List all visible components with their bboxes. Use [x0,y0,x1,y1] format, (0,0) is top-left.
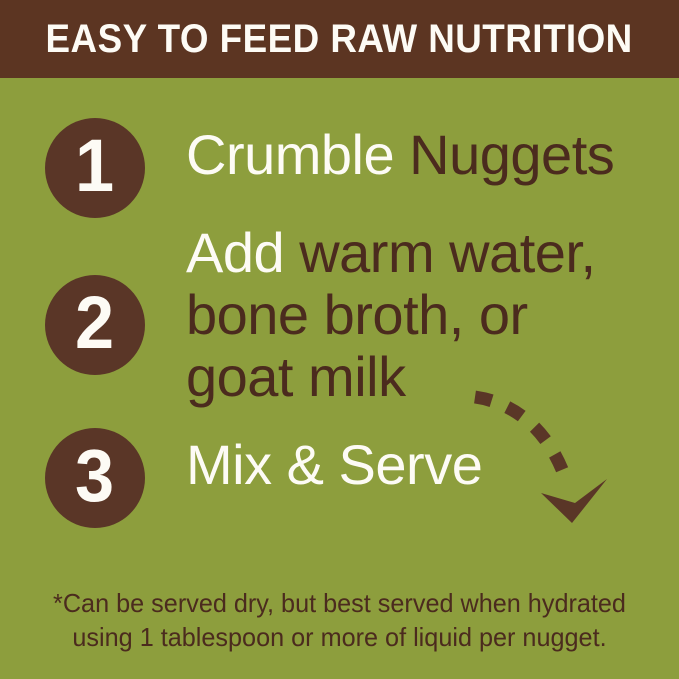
step-3-text: Mix & Serve [186,434,671,496]
step-2-line-3: goat milk [186,346,671,408]
step-2-line-1-part-1: Add [186,221,299,284]
page-title: EASY TO FEED RAW NUTRITION [46,19,633,59]
steps-container: 1 Crumble Nuggets 2 Add warm water, bone… [0,78,679,553]
step-1-line-1-part-1: Crumble [186,123,409,186]
step-1-text: Crumble Nuggets [186,124,671,186]
step-1-number: 1 [75,129,114,203]
footnote: *Can be served dry, but best served when… [0,586,679,654]
footnote-line-1: *Can be served dry, but best served when… [10,586,669,620]
step-1: 1 Crumble Nuggets [0,100,679,210]
step-1-number-badge: 1 [45,118,145,218]
footnote-line-2: using 1 tablespoon or more of liquid per… [10,620,669,654]
step-2-number: 2 [75,286,114,360]
step-2-line-2: bone broth, or [186,284,671,346]
step-2-line-1-part-2: warm water, [299,221,595,284]
step-3-number-badge: 3 [45,428,145,528]
step-3: 3 Mix & Serve [0,418,679,538]
step-2-line-3-part-1: goat milk [186,345,406,408]
step-1-line-1-part-2: Nuggets [409,123,614,186]
header-banner: EASY TO FEED RAW NUTRITION [0,0,679,78]
step-2-line-2-part-1: bone broth, or [186,283,528,346]
step-3-line-1: Mix & Serve [186,434,671,496]
step-1-line-1: Crumble Nuggets [186,124,671,186]
step-3-number: 3 [75,439,114,513]
step-3-line-1-part-1: Mix & Serve [186,433,482,496]
step-2-number-badge: 2 [45,275,145,375]
feeding-instructions-infographic: EASY TO FEED RAW NUTRITION 1 Crumble Nug… [0,0,679,679]
step-2-line-1: Add warm water, [186,222,671,284]
step-2: 2 Add warm water, bone broth, or goat mi… [0,218,679,418]
step-2-text: Add warm water, bone broth, or goat milk [186,222,671,408]
